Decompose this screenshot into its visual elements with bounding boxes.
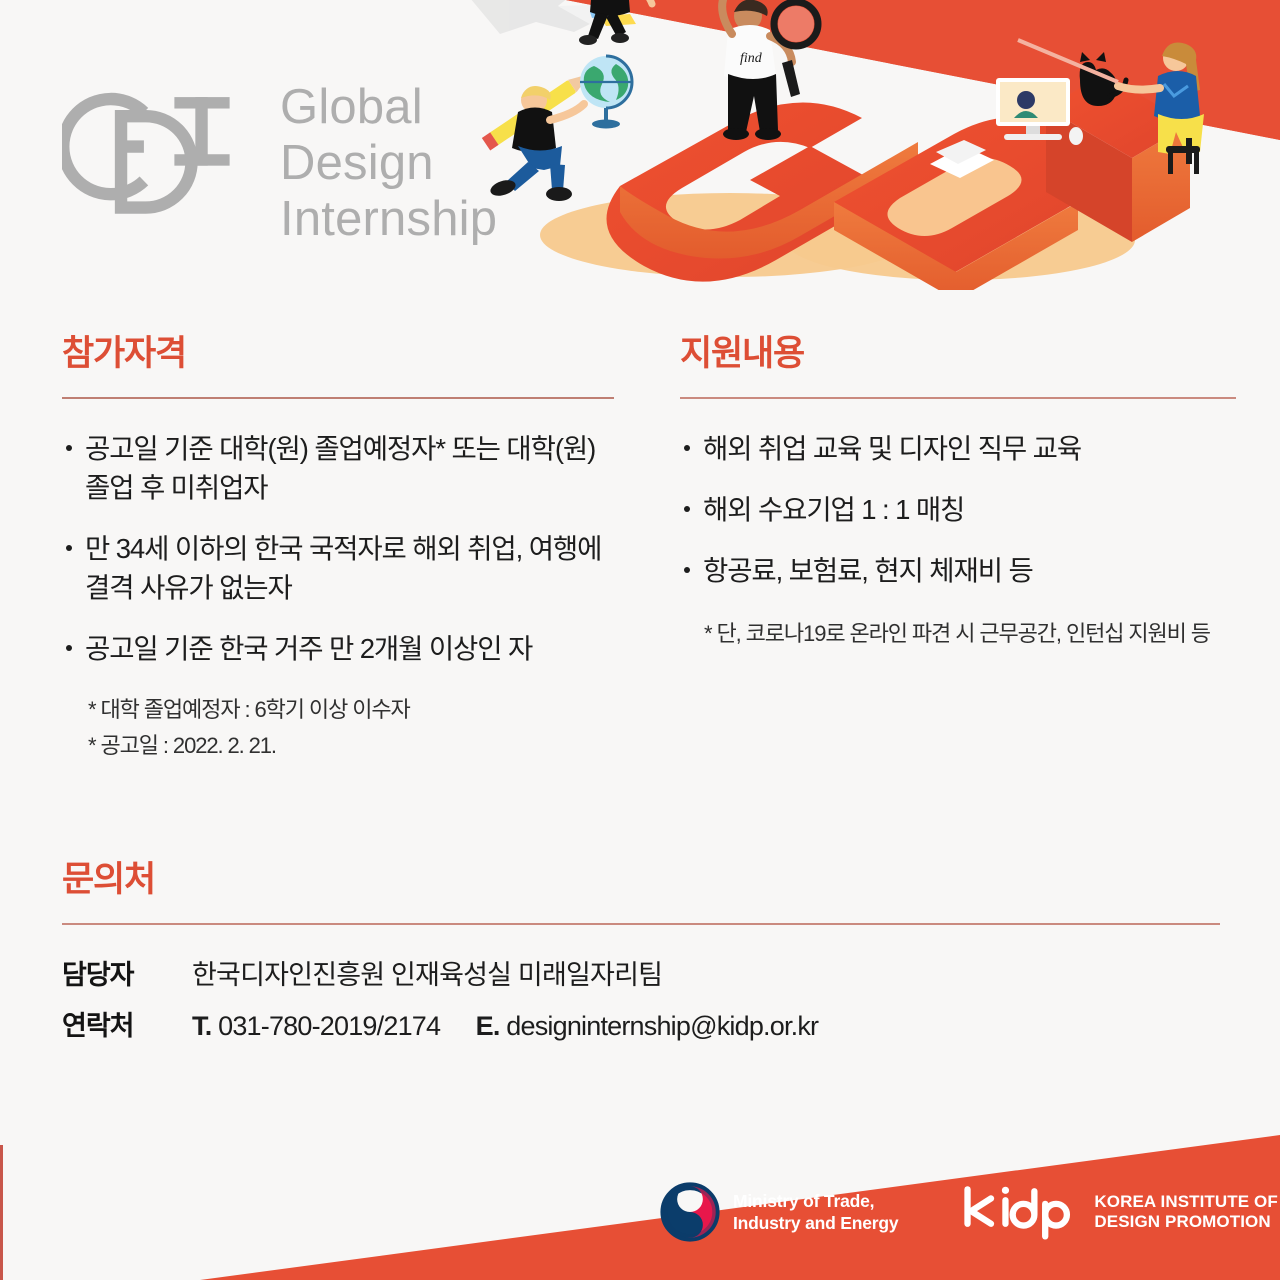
kidp-wordmark-icon [960,1184,1078,1240]
hero-illustration: find [430,0,1280,290]
section-eligibility: 참가자격 공고일 기준 대학(원) 졸업예정자* 또는 대학(원) 졸업 후 미… [62,336,614,763]
kidp-line-1: KOREA INSTITUTE OF [1094,1192,1277,1212]
poster-canvas: find [0,0,1280,1280]
ministry-logo-text: Ministry of Trade, Industry and Energy [733,1190,898,1234]
support-notes: * 단, 코로나19로 온라인 파견 시 근무공간, 인턴십 지원비 등 [680,616,1236,652]
section-title-contact: 문의처 [62,862,1220,897]
list-item: 공고일 기준 대학(원) 졸업예정자* 또는 대학(원) 졸업 후 미취업자 [62,429,614,507]
gdi-monogram-icon [62,78,262,240]
desk-monitor-illustration [996,78,1083,145]
list-item: 해외 수요기업 1 : 1 매칭 [680,490,1236,529]
section-title-eligibility: 참가자격 [62,336,614,371]
section-divider-support [680,397,1236,399]
svg-text:find: find [740,51,763,66]
ministry-line-1: Ministry of Trade, [733,1190,898,1212]
note-line: * 단, 코로나19로 온라인 파견 시 근무공간, 인턴십 지원비 등 [704,616,1236,652]
phone-prefix: T. [192,1011,211,1041]
contact-label-manager: 담당자 [62,953,192,992]
ministry-logo: Ministry of Trade, Industry and Energy [660,1182,898,1242]
left-edge-accent-line [0,1145,3,1280]
eligibility-notes: * 대학 졸업예정자 : 6학기 이상 이수자 * 공고일 : 2022. 2.… [62,692,614,763]
gdi-logo-line-2: Design [280,136,497,192]
ministry-line-2: Industry and Energy [733,1212,898,1234]
email-prefix: E. [476,1011,500,1041]
eligibility-bullet-list: 공고일 기준 대학(원) 졸업예정자* 또는 대학(원) 졸업 후 미취업자 만… [62,429,614,668]
poster-header: find [0,0,1280,300]
character-with-pencil [482,68,595,201]
section-title-support: 지원내용 [680,336,1236,371]
list-item: 항공료, 보험료, 현지 체재비 등 [680,551,1236,590]
section-contact: 문의처 담당자 한국디자인진흥원 인재육성실 미래일자리팀 연락처 T. 031… [62,862,1220,1055]
contact-value-contact: T. 031-780-2019/2174 E. designinternship… [192,1011,818,1042]
kidp-logo: KOREA INSTITUTE OF DESIGN PROMOTION [960,1184,1277,1240]
globe-icon [580,56,632,129]
contact-row-phone-email: 연락처 T. 031-780-2019/2174 E. designintern… [62,1004,1220,1043]
gdi-logo-line-3: Internship [280,192,497,248]
footer-logos: Ministry of Trade, Industry and Energy K… [660,1182,1278,1242]
gdi-logo-line-1: Global [280,80,497,136]
phone-number[interactable]: 031-780-2019/2174 [218,1011,440,1041]
contact-value-manager: 한국디자인진흥원 인재육성실 미래일자리팀 [192,953,662,992]
contact-label-contact: 연락처 [62,1004,192,1043]
list-item: 만 34세 이하의 한국 국적자로 해외 취업, 여행에 결격 사유가 없는자 [62,529,614,607]
list-item: 공고일 기준 한국 거주 만 2개월 이상인 자 [62,629,614,668]
section-divider-eligibility [62,397,614,399]
support-bullet-list: 해외 취업 교육 및 디자인 직무 교육 해외 수요기업 1 : 1 매칭 항공… [680,429,1236,590]
kidp-logo-text: KOREA INSTITUTE OF DESIGN PROMOTION [1094,1192,1277,1233]
kidp-line-2: DESIGN PROMOTION [1094,1212,1277,1232]
note-line: * 대학 졸업예정자 : 6학기 이상 이수자 [88,692,614,728]
contact-rows: 담당자 한국디자인진흥원 인재육성실 미래일자리팀 연락처 T. 031-780… [62,953,1220,1043]
section-support: 지원내용 해외 취업 교육 및 디자인 직무 교육 해외 수요기업 1 : 1 … [680,336,1236,652]
gdi-logo-text: Global Design Internship [280,80,497,248]
list-item: 해외 취업 교육 및 디자인 직무 교육 [680,429,1236,468]
note-line: * 공고일 : 2022. 2. 21. [88,728,614,764]
gdi-logo: Global Design Internship [62,78,497,248]
section-divider-contact [62,923,1220,925]
taegeuk-icon [660,1182,720,1242]
email-address[interactable]: designinternship@kidp.or.kr [506,1011,818,1041]
contact-row-manager: 담당자 한국디자인진흥원 인재육성실 미래일자리팀 [62,953,1220,992]
